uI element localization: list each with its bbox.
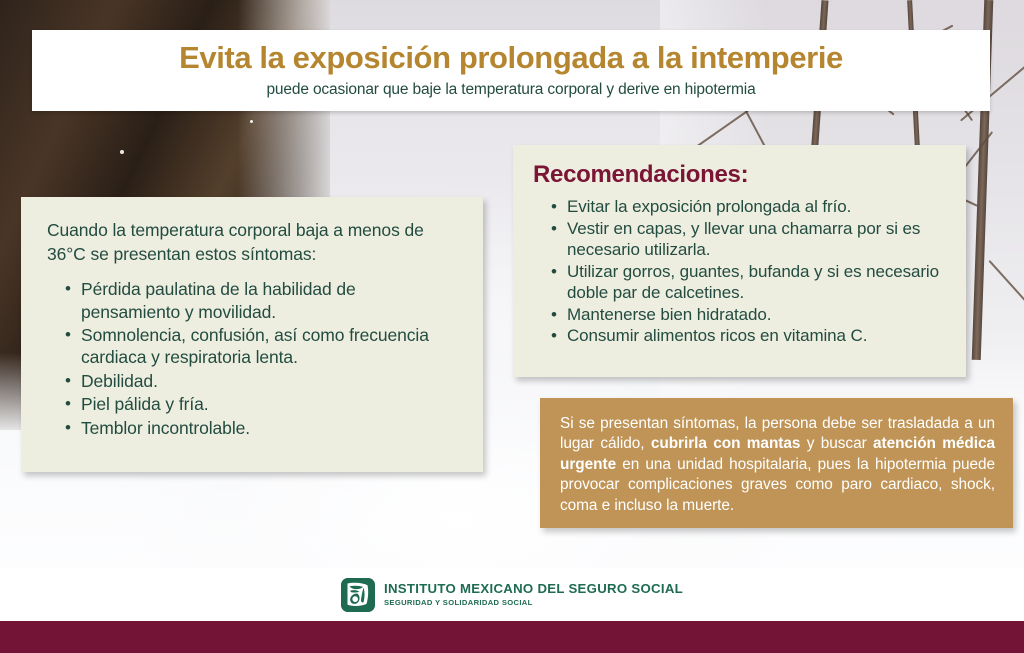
imss-eagle-logo-icon [341,578,375,612]
list-item: Vestir en capas, y llevar una chamarra p… [547,218,948,261]
body-text: en una unidad hospitalaria, pues la hipo… [560,456,995,514]
list-item: Temblor incontrolable. [61,417,459,439]
page-subtitle: puede ocasionar que baje la temperatura … [266,81,755,99]
institution-tagline: SEGURIDAD Y SOLIDARIDAD SOCIAL [384,598,683,607]
alert-text: Si se presentan síntomas, la persona deb… [560,414,995,516]
list-item: Somnolencia, confusión, así como frecuen… [61,324,459,369]
list-item: Piel pálida y fría. [61,393,459,415]
list-item: Pérdida paulatina de la habilidad de pen… [61,278,459,323]
list-item: Utilizar gorros, guantes, bufanda y si e… [547,261,948,304]
symptoms-list: Pérdida paulatina de la habilidad de pen… [61,278,459,439]
infographic-poster: Evita la exposición prolongada a la inte… [0,0,1024,653]
list-item: Consumir alimentos ricos en vitamina C. [547,325,948,347]
footer: INSTITUTO MEXICANO DEL SEGURO SOCIAL SEG… [0,568,1024,621]
list-item: Mantenerse bien hidratado. [547,304,948,326]
imss-logo-text: INSTITUTO MEXICANO DEL SEGURO SOCIAL SEG… [384,582,683,608]
urgent-alert-card: Si se presentan síntomas, la persona deb… [540,398,1013,528]
list-item: Debilidad. [61,370,459,392]
list-item: Evitar la exposición prolongada al frío. [547,196,948,218]
imss-logo: INSTITUTO MEXICANO DEL SEGURO SOCIAL SEG… [341,578,683,612]
symptoms-intro-text: Cuando la temperatura corporal baja a me… [47,219,459,266]
body-text: y buscar [800,435,873,452]
recommendations-card: Recomendaciones: Evitar la exposición pr… [513,145,966,377]
institution-name: INSTITUTO MEXICANO DEL SEGURO SOCIAL [384,582,683,597]
header-banner: Evita la exposición prolongada a la inte… [32,30,990,111]
emphasis-text: cubrirla con mantas [651,435,801,452]
recommendations-heading: Recomendaciones: [533,161,948,189]
page-title: Evita la exposición prolongada a la inte… [179,42,843,75]
symptoms-card: Cuando la temperatura corporal baja a me… [21,197,483,472]
recommendations-list: Evitar la exposición prolongada al frío.… [547,196,948,347]
bottom-accent-bar [0,621,1024,653]
